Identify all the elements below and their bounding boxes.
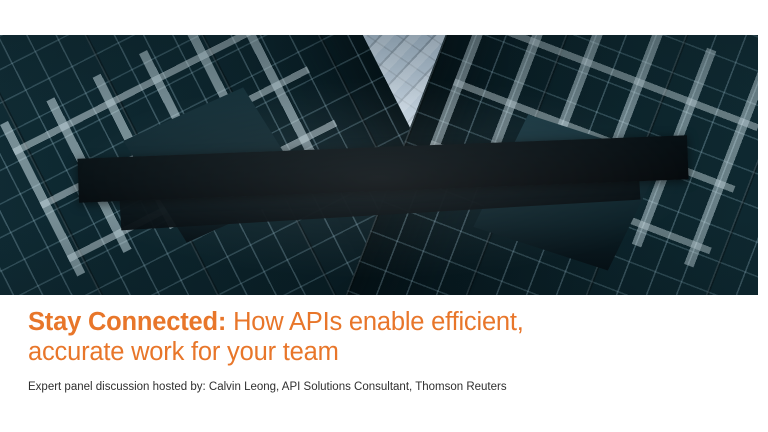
page-subtitle: Expert panel discussion hosted by: Calvi…	[28, 379, 528, 395]
presentation-slide: Stay Connected: How APIs enable efficien…	[0, 0, 768, 432]
page-title-lead: Stay Connected:	[28, 308, 226, 336]
title-block: Stay Connected: How APIs enable efficien…	[28, 307, 588, 395]
skyscraper-photo	[0, 35, 758, 295]
page-title: Stay Connected: How APIs enable efficien…	[28, 307, 588, 367]
hero-banner-image	[0, 35, 758, 295]
